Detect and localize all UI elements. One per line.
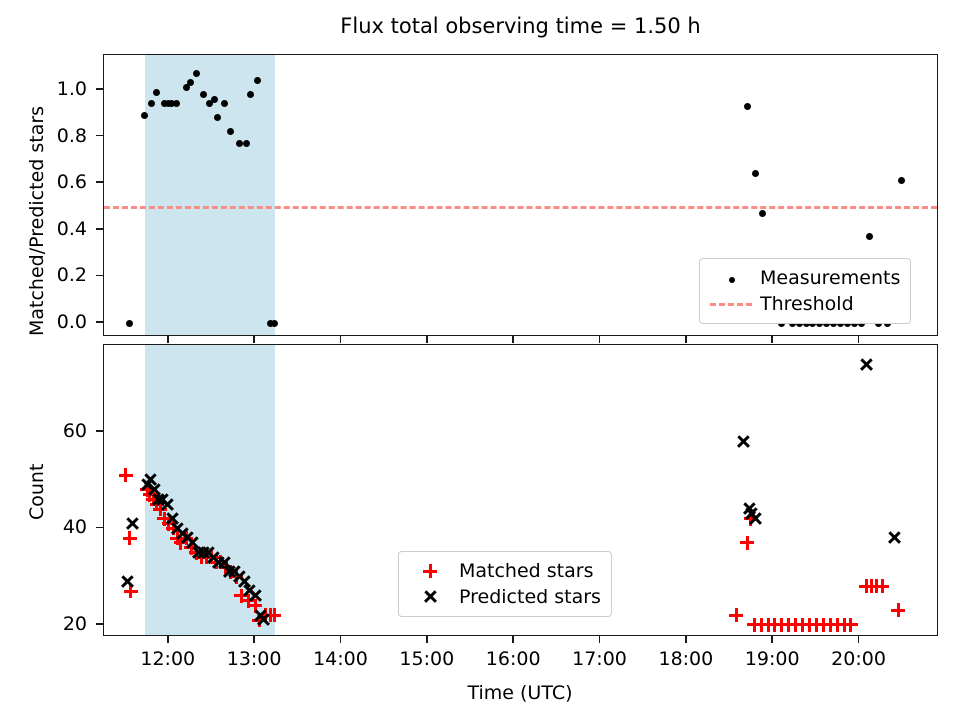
bottom-panel-legend: Matched stars Predicted stars	[398, 551, 612, 617]
x-axis-tick-mark	[512, 636, 514, 643]
plus-marker-icon	[407, 558, 453, 584]
data-point	[193, 70, 200, 77]
x-axis-tick-mark	[858, 636, 860, 643]
bottom-panel-y-axis-label: Count	[26, 464, 48, 520]
y-axis-tick-label: 60	[5, 420, 87, 442]
data-point	[866, 233, 873, 240]
top-panel-y-axis-label: Matched/Predicted stars	[26, 106, 48, 336]
x-axis-tick-mark	[426, 636, 428, 643]
data-point	[200, 91, 207, 98]
data-point	[759, 210, 766, 217]
x-axis-tick-label: 18:00	[658, 648, 713, 670]
x-axis-tick-label: 16:00	[486, 648, 541, 670]
y-axis-tick-mark	[96, 623, 103, 625]
data-point	[153, 89, 160, 96]
data-point	[898, 177, 905, 184]
legend-item-measurements: Measurements	[708, 265, 900, 291]
dot-marker-icon	[708, 265, 754, 291]
x-axis-tick-label: 20:00	[831, 648, 886, 670]
x-axis-tick-mark	[340, 336, 342, 343]
y-axis-tick-label: 1.0	[5, 78, 87, 100]
y-axis-tick-mark	[96, 321, 103, 323]
legend-label-matched-stars: Matched stars	[453, 560, 593, 582]
dashed-line-icon	[708, 291, 754, 317]
data-point	[752, 170, 759, 177]
x-axis-tick-mark	[512, 336, 514, 343]
x-axis-tick-mark	[599, 636, 601, 643]
y-axis-tick-label: 20	[5, 613, 87, 635]
x-axis-tick-mark	[253, 336, 255, 343]
data-point	[243, 140, 250, 147]
data-point	[211, 96, 218, 103]
y-axis-tick-mark	[96, 430, 103, 432]
x-axis-tick-mark	[599, 336, 601, 343]
y-axis-tick-mark	[96, 228, 103, 230]
top-panel-legend: Measurements Threshold	[699, 258, 911, 324]
legend-item-threshold: Threshold	[708, 291, 900, 317]
y-axis-tick-mark	[96, 135, 103, 137]
x-axis-tick-label: 17:00	[572, 648, 627, 670]
x-axis-tick-mark	[685, 336, 687, 343]
x-axis-tick-mark	[771, 636, 773, 643]
data-point	[221, 100, 228, 107]
figure-canvas: Flux total observing time = 1.50 h 0.00.…	[0, 0, 960, 720]
data-point	[271, 320, 278, 327]
y-axis-tick-mark	[96, 88, 103, 90]
x-axis-tick-mark	[340, 636, 342, 643]
x-axis-tick-label: 19:00	[745, 648, 800, 670]
x-axis-tick-mark	[858, 336, 860, 343]
x-axis-tick-mark	[771, 336, 773, 343]
y-axis-tick-mark	[96, 181, 103, 183]
x-axis-tick-label: 15:00	[399, 648, 454, 670]
y-axis-tick-mark	[96, 527, 103, 529]
x-axis-tick-mark	[167, 336, 169, 343]
x-axis-tick-mark	[167, 636, 169, 643]
legend-label-predicted-stars: Predicted stars	[453, 586, 601, 608]
x-axis-tick-mark	[253, 636, 255, 643]
legend-label-threshold: Threshold	[754, 293, 854, 315]
y-axis-tick-mark	[96, 275, 103, 277]
cross-marker-icon	[407, 584, 453, 610]
x-axis-tick-label: 12:00	[140, 648, 195, 670]
threshold-line	[104, 206, 937, 209]
x-axis-tick-label: 14:00	[313, 648, 368, 670]
data-point	[126, 320, 133, 327]
x-axis-label: Time (UTC)	[467, 682, 572, 704]
data-point	[744, 103, 751, 110]
observing-window-shade-top	[145, 55, 275, 335]
x-axis-tick-mark	[426, 336, 428, 343]
x-axis-tick-mark	[685, 636, 687, 643]
legend-item-matched-stars: Matched stars	[407, 558, 601, 584]
legend-label-measurements: Measurements	[754, 267, 900, 289]
figure-title: Flux total observing time = 1.50 h	[103, 14, 938, 38]
legend-item-predicted-stars: Predicted stars	[407, 584, 601, 610]
x-axis-tick-label: 13:00	[227, 648, 282, 670]
